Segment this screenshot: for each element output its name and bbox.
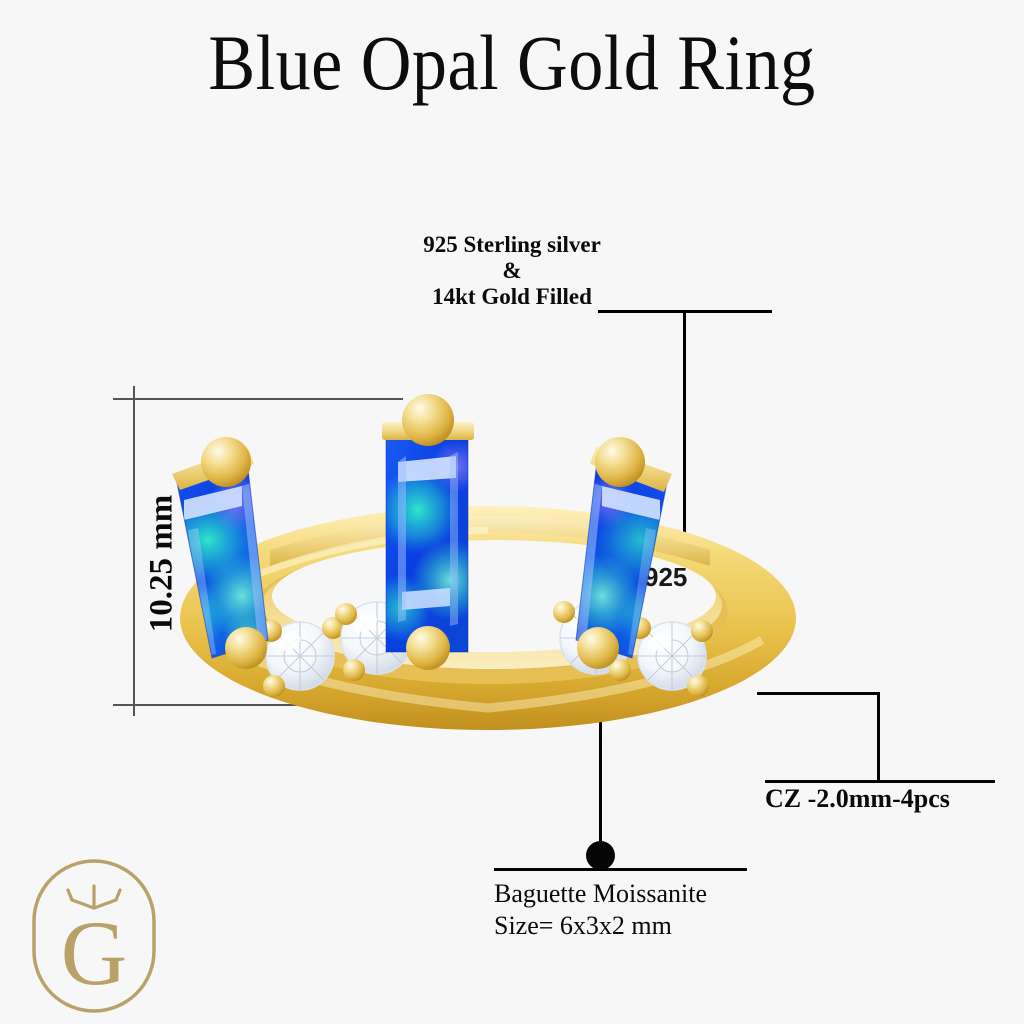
dimension-line-vertical xyxy=(133,386,135,716)
page-title: Blue Opal Gold Ring xyxy=(51,20,973,106)
logo-letter: G xyxy=(61,902,127,1004)
baguette-label-rule xyxy=(494,868,747,871)
product-diagram: Blue Opal Gold Ring 925 Sterling silver … xyxy=(0,0,1024,1024)
cz-leader-vertical xyxy=(877,692,880,782)
brand-logo: G xyxy=(28,856,160,1016)
prong-bead-left-top xyxy=(201,437,251,487)
prong-bead-right-top xyxy=(595,437,645,487)
cz-label-rule xyxy=(765,780,995,783)
baguette-leader-dot xyxy=(586,841,615,870)
prong-bead-right-bottom xyxy=(577,627,619,669)
cz-label: CZ -2.0mm-4pcs xyxy=(765,784,950,814)
material-label: 925 Sterling silver & 14kt Gold Filled xyxy=(312,232,712,310)
prong-bead-center-bottom xyxy=(406,626,450,670)
ring-illustration: G 925 xyxy=(150,390,830,730)
baguette-label: Baguette Moissanite Size= 6x3x2 mm xyxy=(494,878,914,942)
baguette-line-2: Size= 6x3x2 mm xyxy=(494,910,914,942)
material-line-1: 925 Sterling silver xyxy=(312,232,712,258)
baguette-line-1: Baguette Moissanite xyxy=(494,878,914,910)
prong-bead-center-top xyxy=(402,394,454,446)
prong-bead-left-bottom xyxy=(225,627,267,669)
material-line-3: 14kt Gold Filled xyxy=(312,284,712,310)
material-line-2: & xyxy=(312,258,712,284)
